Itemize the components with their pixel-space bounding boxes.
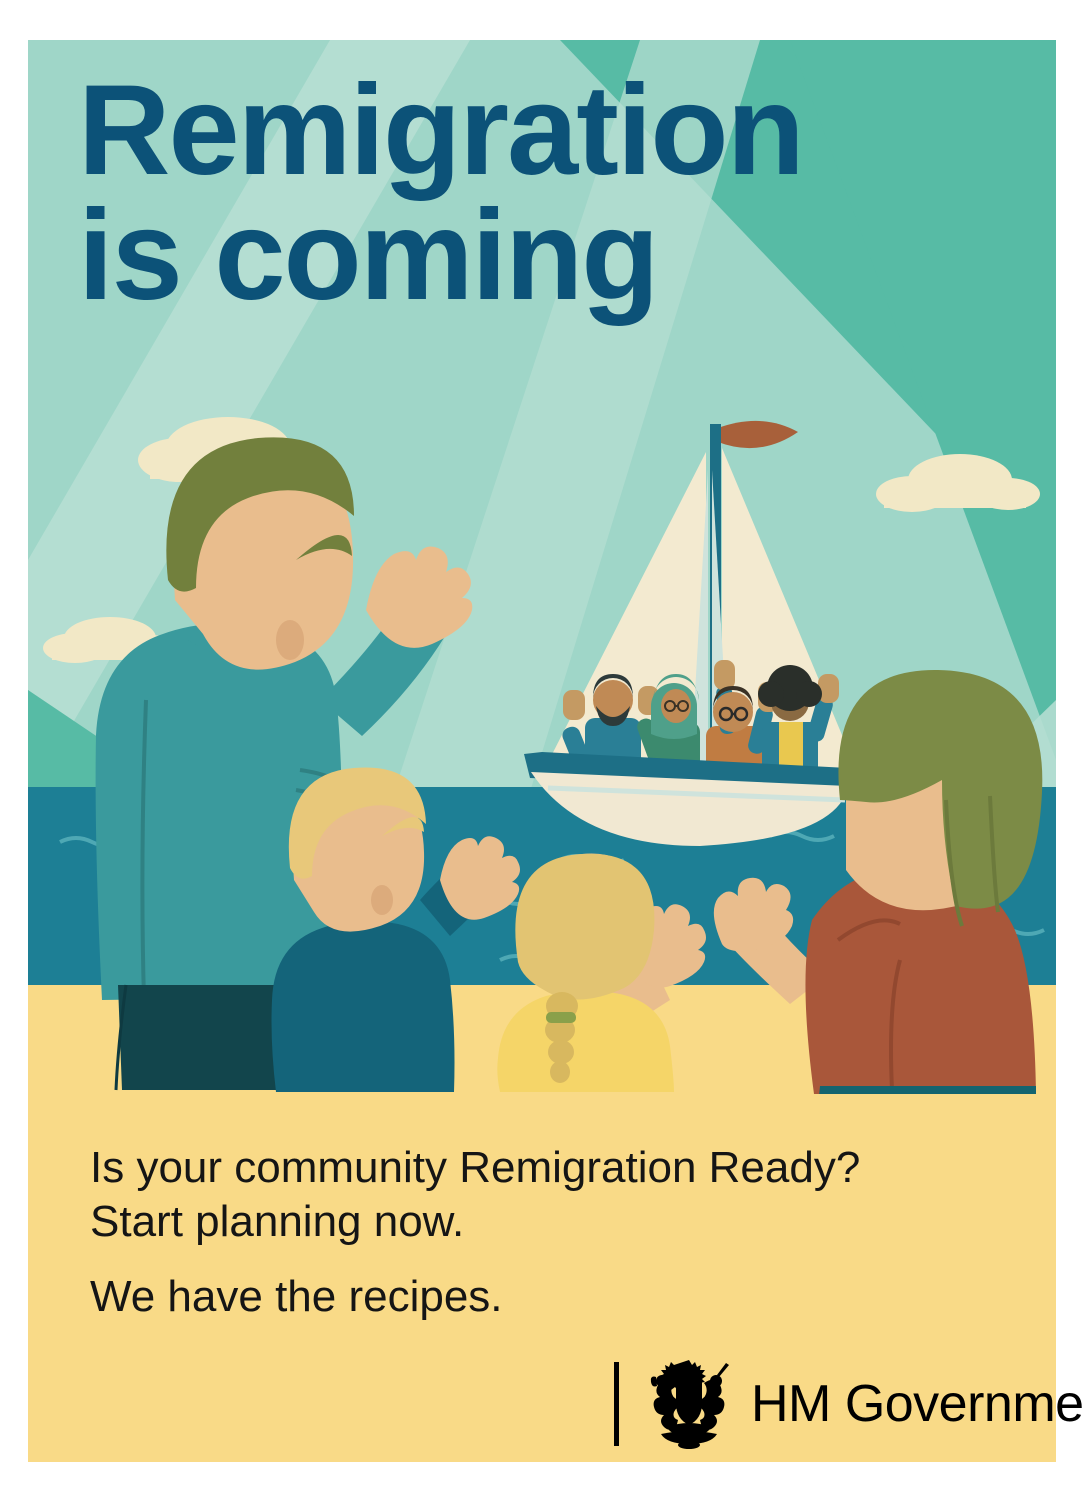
logo-wordmark: HM Government — [751, 1374, 1085, 1434]
hand-wave — [563, 690, 585, 720]
logo-divider-rule — [614, 1362, 619, 1446]
hand-wave — [818, 674, 839, 703]
body-copy-secondary: We have the recipes. — [90, 1270, 1010, 1324]
page-title: Remigration is coming — [78, 68, 908, 319]
hm-government-logo: HM Government — [614, 1356, 1026, 1452]
girl-hair-tie — [546, 1012, 576, 1023]
royal-coat-of-arms-icon — [643, 1357, 735, 1451]
boy-ear — [371, 885, 393, 915]
poster-canvas: Remigration is coming Is your community … — [0, 0, 1085, 1492]
boy-shirt — [272, 921, 455, 1092]
father-ear — [276, 620, 304, 660]
girl-hair — [515, 854, 654, 1000]
body-copy-primary: Is your community Remigration Ready? Sta… — [90, 1141, 1010, 1248]
hand-wave — [714, 660, 735, 690]
